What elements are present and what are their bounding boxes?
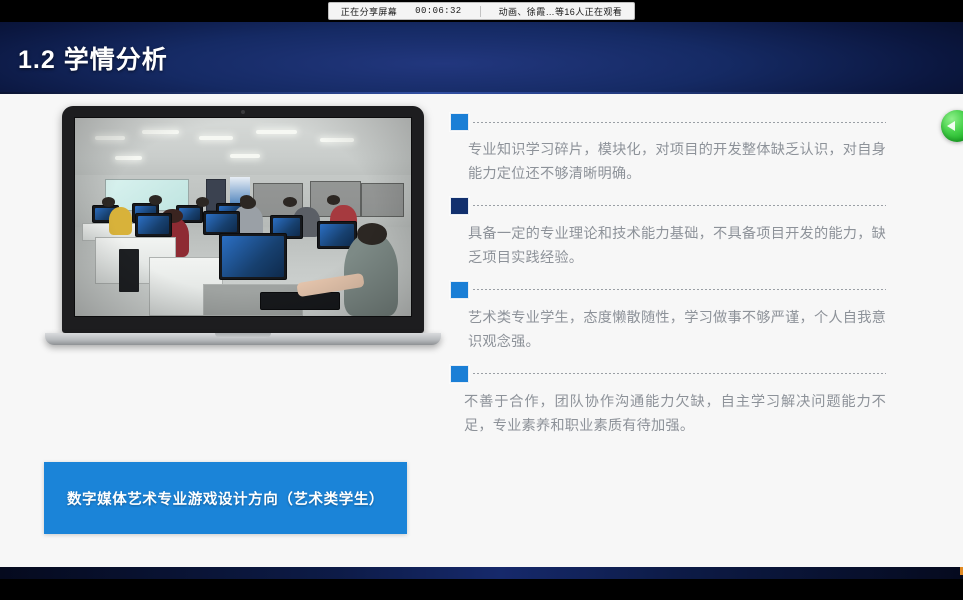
slide-header-band: 1.2 学情分析 bbox=[0, 22, 963, 94]
bullet-head bbox=[450, 112, 886, 132]
laptop-device bbox=[62, 106, 424, 345]
laptop-base bbox=[45, 333, 441, 345]
share-viewers-label: 动画、徐霞…等16人正在观看 bbox=[499, 5, 623, 18]
bullet-item: 不善于合作，团队协作沟通能力欠缺，自主学习解决问题能力不足，专业素养和职业素质有… bbox=[450, 364, 886, 439]
shared-screen-view: 正在分享屏幕 00:06:32 动画、徐霞…等16人正在观看 1.2 学情分析 bbox=[0, 0, 963, 600]
bullet-item: 艺术类专业学生，态度懒散随性，学习做事不够严谨，个人自我意识观念强。 bbox=[450, 280, 886, 355]
black-letterbox-bottom bbox=[0, 579, 963, 600]
bullet-item: 专业知识学习碎片，模块化，对项目的开发整体缺乏认识，对自身能力定位还不够清晰明确… bbox=[450, 112, 886, 187]
bullet-text: 艺术类专业学生，态度懒散随性，学习做事不够严谨，个人自我意识观念强。 bbox=[450, 306, 886, 355]
bullet-text: 具备一定的专业理论和技术能力基础，不具备项目开发的能力，缺乏项目实践经验。 bbox=[450, 222, 886, 271]
share-timer: 00:06:32 bbox=[415, 6, 461, 16]
photo-canvas bbox=[75, 118, 411, 316]
webcam-icon bbox=[241, 110, 245, 114]
dotted-divider bbox=[473, 205, 886, 206]
share-status-label: 正在分享屏幕 bbox=[341, 5, 397, 18]
bullet-head bbox=[450, 280, 886, 300]
photo-vignette bbox=[75, 118, 411, 316]
screen-share-bar: 正在分享屏幕 00:06:32 动画、徐霞…等16人正在观看 bbox=[0, 0, 963, 22]
bullet-item: 具备一定的专业理论和技术能力基础，不具备项目开发的能力，缺乏项目实践经验。 bbox=[450, 196, 886, 271]
caption-box: 数字媒体艺术专业游戏设计方向（艺术类学生） bbox=[44, 462, 407, 534]
square-bullet-icon bbox=[450, 113, 469, 131]
slide-footer-band bbox=[0, 567, 963, 579]
dotted-divider bbox=[473, 373, 886, 374]
caption-label: 数字媒体艺术专业游戏设计方向（艺术类学生） bbox=[67, 488, 384, 509]
laptop-notch bbox=[215, 333, 271, 338]
slide-title: 1.2 学情分析 bbox=[18, 40, 168, 76]
slide-body: 数字媒体艺术专业游戏设计方向（艺术类学生） 专业知识学习碎片，模块化，对项目的开… bbox=[0, 94, 963, 567]
square-bullet-icon bbox=[450, 281, 469, 299]
dotted-divider bbox=[473, 289, 886, 290]
classroom-photo bbox=[74, 117, 412, 317]
share-pill-divider bbox=[480, 6, 481, 17]
bullet-head bbox=[450, 196, 886, 216]
laptop-mockup bbox=[28, 106, 428, 345]
dotted-divider bbox=[473, 122, 886, 123]
square-bullet-icon bbox=[450, 197, 469, 215]
screen-share-pill[interactable]: 正在分享屏幕 00:06:32 动画、徐霞…等16人正在观看 bbox=[328, 2, 635, 20]
bullet-text: 不善于合作，团队协作沟通能力欠缺，自主学习解决问题能力不足，专业素养和职业素质有… bbox=[450, 390, 886, 439]
bullet-list: 专业知识学习碎片，模块化，对项目的开发整体缺乏认识，对自身能力定位还不够清晰明确… bbox=[450, 112, 886, 447]
square-bullet-icon bbox=[450, 365, 469, 383]
laptop-lid bbox=[62, 106, 424, 333]
bullet-text: 专业知识学习碎片，模块化，对项目的开发整体缺乏认识，对自身能力定位还不够清晰明确… bbox=[450, 138, 886, 187]
bullet-head bbox=[450, 364, 886, 384]
presentation-slide: 1.2 学情分析 bbox=[0, 22, 963, 567]
